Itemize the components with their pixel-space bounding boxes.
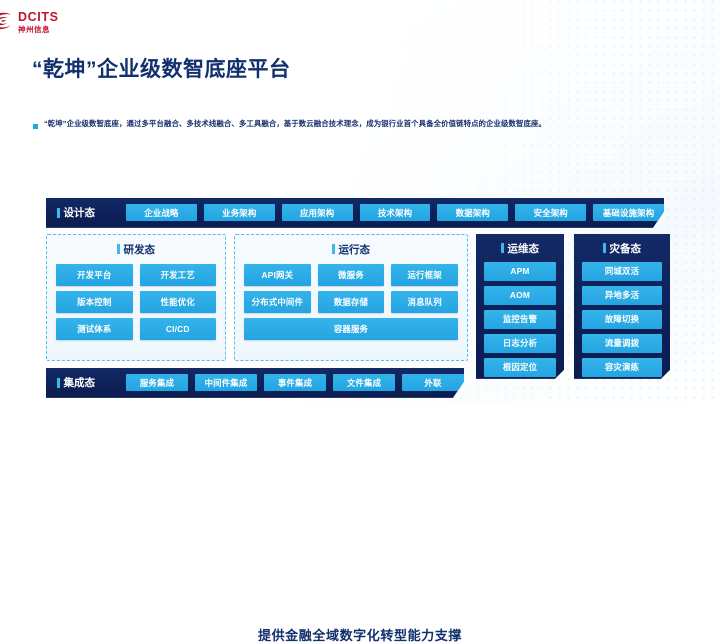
rd-chip-version-control[interactable]: 版本控制: [56, 291, 133, 313]
brand-wordmark: DCITS 神州信息: [18, 11, 59, 33]
design-chip-security-architecture[interactable]: 安全架构: [515, 204, 586, 221]
architecture-diagram: 设计态 企业战略 业务架构 应用架构 技术架构 数据架构 安全架构 基础设施架构…: [46, 198, 674, 406]
rd-chip-dev-process[interactable]: 开发工艺: [140, 264, 217, 286]
dr-state-title-text: 灾备态: [610, 241, 642, 256]
rd-chip-test-system[interactable]: 测试体系: [56, 318, 133, 340]
dcits-swirl-icon: [0, 11, 14, 33]
design-chip-data-architecture[interactable]: 数据架构: [437, 204, 508, 221]
rd-chip-cicd[interactable]: CI/CD: [140, 318, 217, 340]
runtime-state-title: 运行态: [244, 242, 458, 257]
integration-state-label: 集成态: [57, 375, 119, 390]
ops-chip-apm[interactable]: APM: [484, 262, 556, 281]
rd-state-panel: 研发态 开发平台 开发工艺 版本控制 性能优化 测试体系 CI/CD: [46, 234, 226, 361]
design-chip-infrastructure-architecture[interactable]: 基础设施架构: [593, 204, 664, 221]
design-chip-technology-architecture[interactable]: 技术架构: [360, 204, 431, 221]
integration-chip-middleware-integration[interactable]: 中间件集成: [195, 374, 257, 391]
rd-state-grid: 开发平台 开发工艺 版本控制 性能优化 测试体系 CI/CD: [56, 264, 216, 340]
tick-icon: [332, 244, 335, 254]
square-bullet-icon: [33, 124, 38, 129]
dr-chip-traffic-scheduling[interactable]: 流量调拨: [582, 334, 662, 353]
rd-chip-performance-optimization[interactable]: 性能优化: [140, 291, 217, 313]
tick-icon: [57, 378, 60, 388]
slide-canvas: DCITS 神州信息 “乾坤”企业级数智底座平台 “乾坤”企业级数智底座，通过多…: [0, 0, 720, 405]
dr-chip-same-city-dual-active[interactable]: 同城双活: [582, 262, 662, 281]
integration-chip-file-integration[interactable]: 文件集成: [333, 374, 395, 391]
dr-state-panel: 灾备态 同城双活 异地多活 故障切换 流量调拨 容灾演练: [574, 234, 670, 379]
design-chip-business-architecture[interactable]: 业务架构: [204, 204, 275, 221]
runtime-chip-distributed-middleware[interactable]: 分布式中间件: [244, 291, 311, 313]
footer-caption: 提供金融全域数字化转型能力支撑: [0, 625, 720, 644]
page-subtitle: “乾坤”企业级数智底座，通过多平台融合、多技术线融合、多工具融合，基于数云融合技…: [44, 120, 546, 129]
design-state-label: 设计态: [57, 205, 119, 220]
runtime-chip-container-service[interactable]: 容器服务: [244, 318, 458, 340]
integration-chip-event-integration[interactable]: 事件集成: [264, 374, 326, 391]
ops-state-title-text: 运维态: [508, 241, 540, 256]
ops-chip-aom[interactable]: AOM: [484, 286, 556, 305]
brand-name-en: DCITS: [18, 11, 59, 24]
rd-chip-dev-platform[interactable]: 开发平台: [56, 264, 133, 286]
design-state-label-text: 设计态: [64, 205, 96, 220]
integration-chip-service-integration[interactable]: 服务集成: [126, 374, 188, 391]
runtime-state-panel: 运行态 API网关 微服务 运行框架 分布式中间件 数据存储 消息队列 容器服务: [234, 234, 468, 361]
rd-state-title-text: 研发态: [124, 242, 156, 257]
dr-chip-multi-site-active[interactable]: 异地多活: [582, 286, 662, 305]
integration-chip-external-connection[interactable]: 外联: [402, 374, 464, 391]
runtime-state-title-text: 运行态: [339, 242, 371, 257]
runtime-chip-api-gateway[interactable]: API网关: [244, 264, 311, 286]
runtime-chip-runtime-framework[interactable]: 运行框架: [391, 264, 458, 286]
integration-state-row: 集成态 服务集成 中间件集成 事件集成 文件集成 外联: [46, 368, 464, 398]
tick-icon: [57, 208, 60, 218]
ops-chip-log-analysis[interactable]: 日志分析: [484, 334, 556, 353]
dr-chip-dr-drill[interactable]: 容灾演练: [582, 358, 662, 377]
tick-icon: [117, 244, 120, 254]
ops-chip-root-cause-analysis[interactable]: 根因定位: [484, 358, 556, 377]
design-state-row: 设计态 企业战略 业务架构 应用架构 技术架构 数据架构 安全架构 基础设施架构: [46, 198, 664, 228]
tick-icon: [603, 243, 606, 253]
runtime-chip-data-storage[interactable]: 数据存储: [318, 291, 385, 313]
runtime-chip-microservice[interactable]: 微服务: [318, 264, 385, 286]
runtime-state-grid: API网关 微服务 运行框架 分布式中间件 数据存储 消息队列 容器服务: [244, 264, 458, 340]
design-chip-application-architecture[interactable]: 应用架构: [282, 204, 353, 221]
subtitle-row: “乾坤”企业级数智底座，通过多平台融合、多技术线融合、多工具融合，基于数云融合技…: [33, 120, 720, 129]
diagram-middle-band: 研发态 开发平台 开发工艺 版本控制 性能优化 测试体系 CI/CD 运行态: [46, 234, 674, 361]
dr-state-title: 灾备态: [582, 241, 662, 256]
rd-state-title: 研发态: [56, 242, 216, 257]
runtime-chip-message-queue[interactable]: 消息队列: [391, 291, 458, 313]
ops-state-title: 运维态: [484, 241, 556, 256]
ops-state-panel: 运维态 APM AOM 监控告警 日志分析 根因定位: [476, 234, 564, 379]
brand-name-cn: 神州信息: [18, 26, 59, 34]
tick-icon: [501, 243, 504, 253]
ops-chip-monitoring-alert[interactable]: 监控告警: [484, 310, 556, 329]
dr-chip-failover[interactable]: 故障切换: [582, 310, 662, 329]
integration-state-label-text: 集成态: [64, 375, 96, 390]
page-title: “乾坤”企业级数智底座平台: [32, 53, 720, 83]
design-chip-enterprise-strategy[interactable]: 企业战略: [126, 204, 197, 221]
brand-logo: DCITS 神州信息: [0, 11, 708, 33]
